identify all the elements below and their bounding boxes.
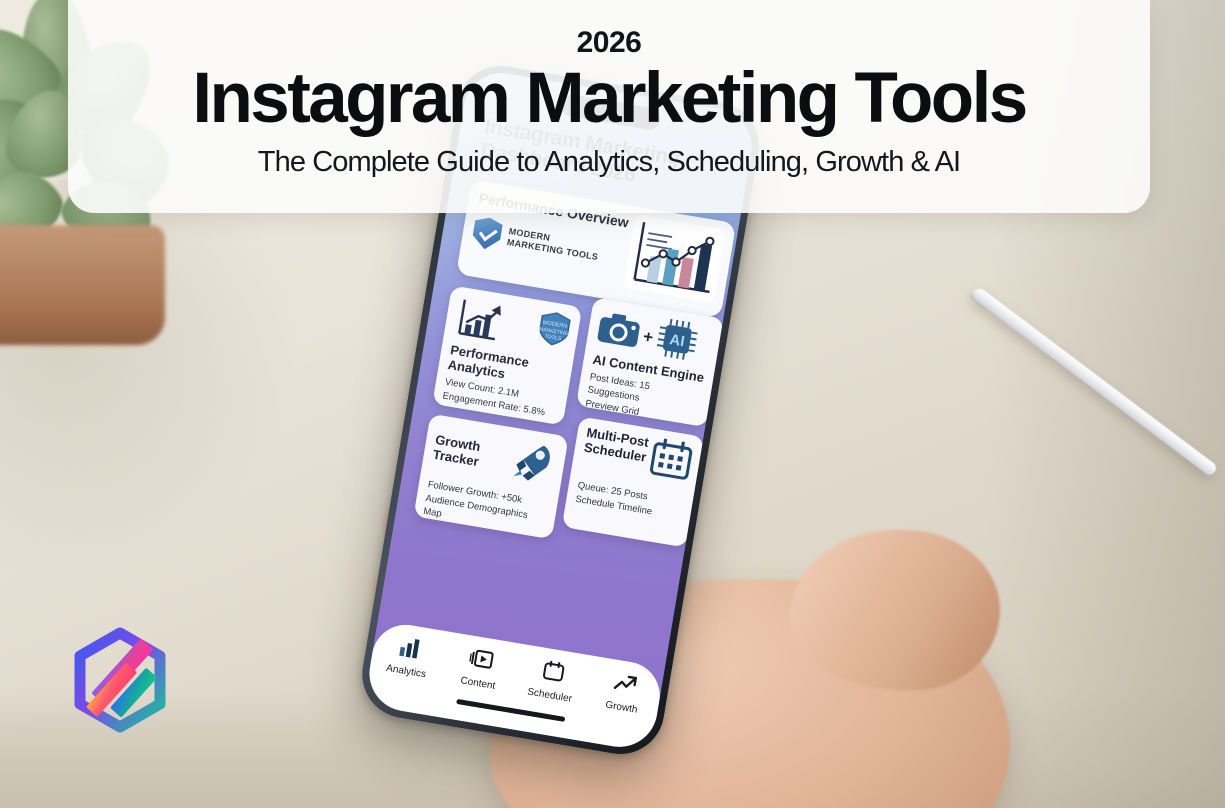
header-overlay: 2026 Instagram Marketing Tools The Compl…	[68, 0, 1150, 213]
bar-chart-icon	[397, 636, 423, 664]
calendar-outline-icon	[540, 660, 566, 688]
header-subtitle: The Complete Guide to Analytics, Schedul…	[68, 146, 1150, 179]
nav-item-growth[interactable]: Growth	[589, 668, 659, 718]
camera-icon	[595, 310, 643, 353]
growth-bar-chart-icon	[452, 295, 505, 351]
card-ai-content-engine[interactable]: +	[576, 297, 724, 427]
calendar-icon	[648, 437, 695, 486]
thumb	[790, 530, 1000, 690]
hexagon-gradient-logo	[68, 626, 172, 738]
nav-item-content[interactable]: Content	[445, 644, 515, 694]
nav-item-analytics[interactable]: Analytics	[374, 632, 444, 682]
plus-icon: +	[642, 326, 655, 347]
page-title: Instagram Marketing Tools	[68, 62, 1150, 136]
nav-label: Growth	[605, 700, 639, 716]
rocket-icon	[507, 436, 558, 492]
svg-text:AI: AI	[668, 331, 686, 350]
photo-scene: Instagram Marketing Dashboard 2026 Perfo…	[0, 0, 1225, 808]
plant-pot	[0, 225, 165, 345]
home-indicator	[456, 699, 565, 722]
header-year: 2026	[68, 26, 1150, 60]
card-multi-post-scheduler[interactable]: Multi-Post Scheduler	[562, 416, 705, 547]
shield-check-icon	[471, 215, 504, 251]
badge-text: MODERN MARKETING TOOLS	[506, 226, 601, 263]
shield-verified-icon: MODERN MARKETING TOOLS	[536, 310, 572, 353]
ai-chip-icon: AI	[653, 316, 700, 367]
nav-label: Content	[460, 675, 496, 692]
bar-line-chart-icon	[623, 215, 726, 303]
nav-label: Scheduler	[526, 686, 572, 704]
card-title: Growth Tracker	[432, 432, 506, 473]
media-play-icon	[468, 648, 496, 677]
nav-label: Analytics	[385, 663, 426, 680]
trend-up-arrow-icon	[611, 672, 639, 701]
card-performance-analytics[interactable]: MODERN MARKETING TOOLS Performance Analy…	[432, 285, 582, 425]
card-growth-tracker[interactable]: Growth Tracker Follower Growth: +50k	[413, 414, 568, 540]
nav-item-scheduler[interactable]: Scheduler	[517, 656, 587, 706]
card-title: Multi-Post Scheduler	[583, 426, 653, 466]
